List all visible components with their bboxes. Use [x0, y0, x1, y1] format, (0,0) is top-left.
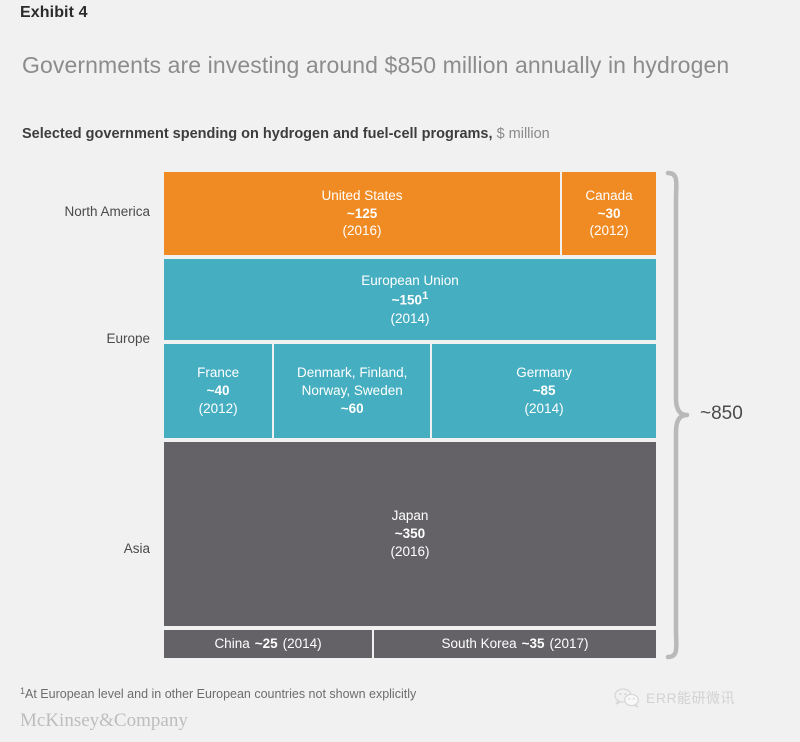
exhibit-page: Exhibit 4 Governments are investing arou… [0, 0, 800, 742]
cell-value: ~125 [347, 205, 377, 223]
cell-year: (2014) [283, 635, 322, 653]
cell-name: South Korea [442, 635, 517, 653]
cell-canada[interactable]: Canada ~30 (2012) [560, 172, 656, 255]
chart-subtitle-main: Selected government spending on hydrogen… [22, 126, 493, 142]
band-europe-countries: France ~40 (2012) Denmark, Finland, Norw… [164, 342, 656, 438]
chart-subtitle: Selected government spending on hydrogen… [22, 126, 550, 142]
footnote-marker: 1 [422, 290, 428, 302]
footnote: 1At European level and in other European… [20, 687, 416, 701]
band-asia-countries: China ~25 (2014) South Korea ~35 (2017) [164, 628, 656, 658]
cell-value: ~85 [533, 382, 556, 400]
cell-name: Germany [516, 364, 572, 382]
band-north-america: United States ~125 (2016) Canada ~30 (20… [164, 172, 656, 255]
row-label-europe: Europe [10, 331, 150, 346]
cell-name: France [197, 364, 239, 382]
cell-name-line1: Denmark, Finland, [297, 364, 407, 382]
cell-south-korea[interactable]: South Korea ~35 (2017) [372, 630, 656, 658]
cell-name: China [214, 635, 249, 653]
row-label-asia: Asia [10, 541, 150, 556]
mckinsey-logo: McKinsey&Company [20, 710, 188, 732]
cell-value: ~40 [207, 382, 230, 400]
cell-name: Japan [392, 507, 429, 525]
cell-value: ~60 [341, 400, 364, 418]
total-brace-icon [664, 170, 690, 660]
chart-subtitle-unit: $ million [497, 126, 550, 142]
cell-value: ~25 [255, 635, 278, 653]
row-label-north-america: North America [10, 204, 150, 219]
cell-european-union[interactable]: European Union ~1501 (2014) [164, 259, 656, 340]
row-label-column: North America Europe Asia [0, 172, 150, 658]
cell-name-line2: Norway, Sweden [302, 382, 403, 400]
cell-china[interactable]: China ~25 (2014) [164, 630, 372, 658]
watermark-badge: ERR能研微讯 [614, 688, 735, 708]
cell-nordics[interactable]: Denmark, Finland, Norway, Sweden ~60 [272, 344, 430, 438]
watermark-text: ERR能研微讯 [646, 688, 735, 708]
cell-name: Canada [585, 187, 632, 205]
page-title: Governments are investing around $850 mi… [22, 52, 729, 79]
cell-year: (2012) [199, 400, 238, 418]
cell-year: (2016) [390, 543, 429, 561]
cell-value: ~350 [395, 525, 425, 543]
cell-year: (2017) [550, 635, 589, 653]
treemap-chart: United States ~125 (2016) Canada ~30 (20… [164, 172, 656, 658]
footnote-text: At European level and in other European … [25, 687, 416, 701]
cell-germany[interactable]: Germany ~85 (2014) [430, 344, 656, 438]
total-value: ~850 [700, 403, 743, 425]
cell-value: ~1501 [392, 289, 429, 309]
cell-france[interactable]: France ~40 (2012) [164, 344, 272, 438]
cell-united-states[interactable]: United States ~125 (2016) [164, 172, 560, 255]
exhibit-label: Exhibit 4 [20, 4, 88, 22]
band-europe-eu: European Union ~1501 (2014) [164, 257, 656, 340]
cell-value: ~35 [522, 635, 545, 653]
cell-value-text: ~150 [392, 293, 422, 308]
cell-value: ~30 [598, 205, 621, 223]
band-asia-japan: Japan ~350 (2016) [164, 440, 656, 626]
cell-year: (2012) [590, 222, 629, 240]
cell-year: (2016) [343, 222, 382, 240]
cell-year: (2014) [390, 310, 429, 328]
cell-name: United States [322, 187, 403, 205]
cell-name: European Union [361, 272, 459, 290]
cell-year: (2014) [525, 400, 564, 418]
cell-japan[interactable]: Japan ~350 (2016) [164, 442, 656, 626]
wechat-icon [614, 688, 640, 708]
